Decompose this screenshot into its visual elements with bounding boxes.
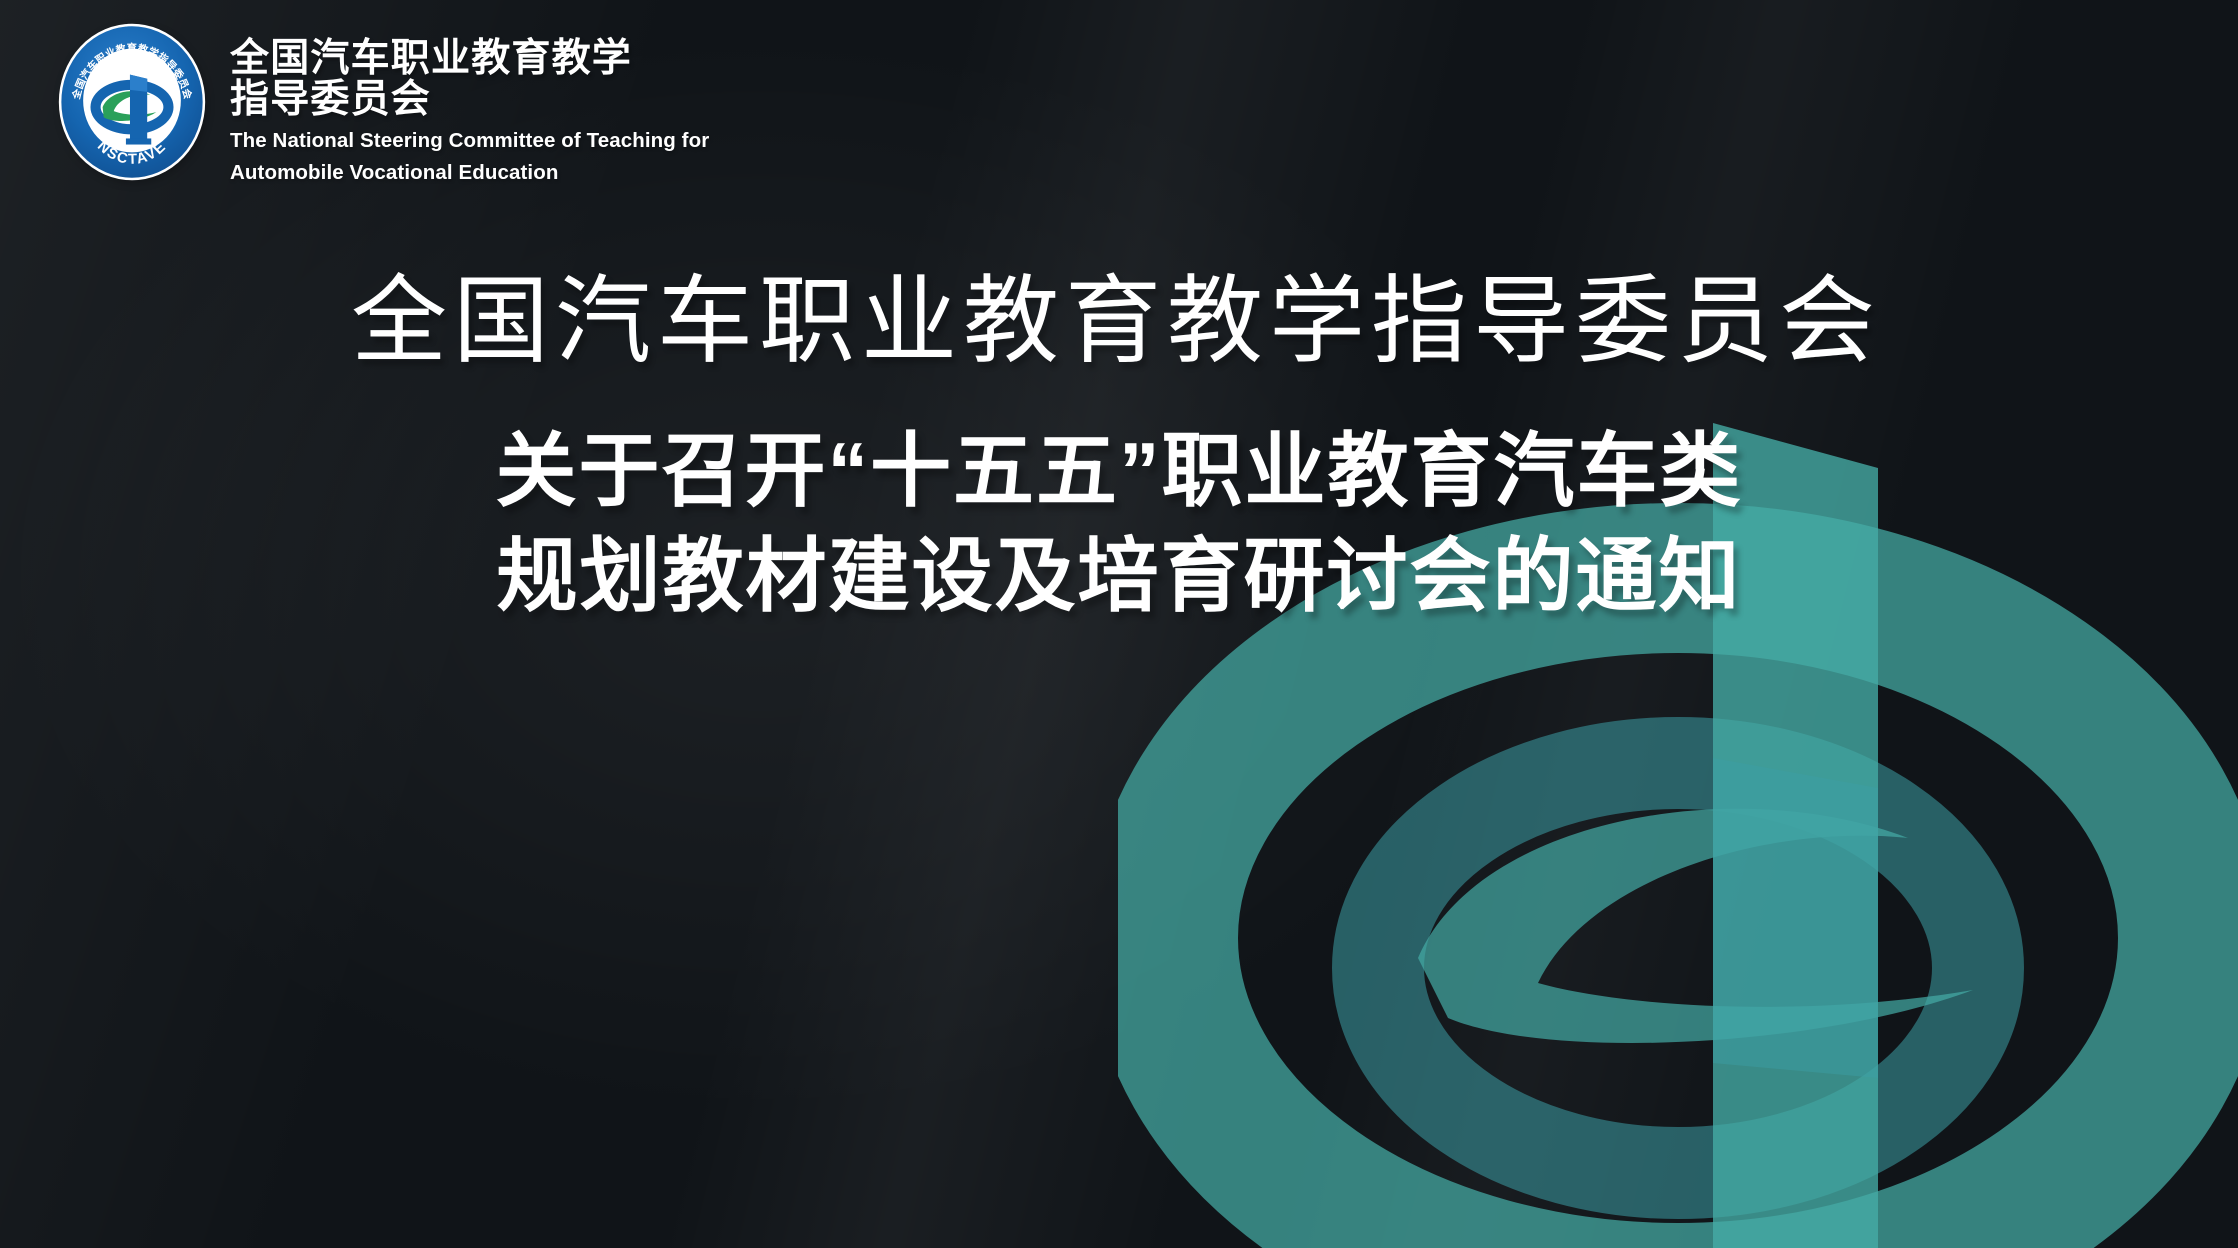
- poster-canvas: 全国汽车职业教育教学指导委员会 NSCTAVE 全国汽车职业教育教学 指导委员会…: [0, 0, 2238, 1248]
- organization-header: 全国汽车职业教育教学指导委员会 NSCTAVE 全国汽车职业教育教学 指导委员会…: [56, 22, 709, 185]
- notice-subtitle: 关于召开“十五五”职业教育汽车类 规划教材建设及培育研讨会的通知: [0, 420, 2238, 631]
- headline-block: 全国汽车职业教育教学指导委员会 关于召开“十五五”职业教育汽车类 规划教材建设及…: [0, 268, 2238, 630]
- notice-subtitle-line2: 规划教材建设及培育研讨会的通知: [0, 525, 2238, 630]
- background-light-streaks: [0, 0, 2238, 1248]
- emblem-watermark-icon: [1118, 318, 2238, 1248]
- notice-subtitle-line1: 关于召开“十五五”职业教育汽车类: [0, 420, 2238, 525]
- organization-name-block: 全国汽车职业教育教学 指导委员会 The National Steering C…: [230, 22, 709, 185]
- org-name-en-line1: The National Steering Committee of Teach…: [230, 128, 709, 153]
- org-name-en-line2: Automobile Vocational Education: [230, 160, 709, 185]
- org-name-cn-line2: 指导委员会: [230, 79, 709, 120]
- nsctave-logo-icon: 全国汽车职业教育教学指导委员会 NSCTAVE: [56, 22, 208, 182]
- org-name-cn-line1: 全国汽车职业教育教学: [230, 38, 709, 79]
- page-title: 全国汽车职业教育教学指导委员会: [0, 268, 2238, 376]
